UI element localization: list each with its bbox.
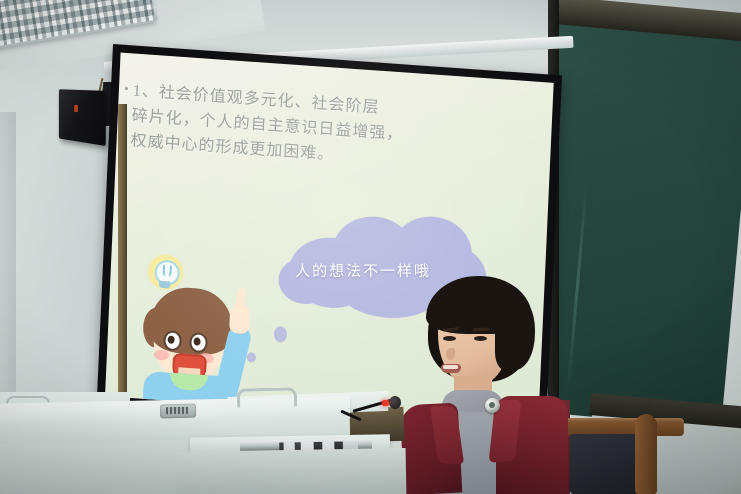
slide-body-text: 1、社会价值观多元化、社会阶层 碎片化，个人的自主意识日益增强， 权威中心的形成… <box>130 80 554 184</box>
chair-armrest <box>635 414 657 494</box>
microphone-status-led <box>382 400 389 406</box>
wall-wood-trim <box>118 104 127 434</box>
lecture-hall-scene: 1、社会价值观多元化、社会阶层 碎片化，个人的自主意识日益增强， 权威中心的形成… <box>0 0 741 494</box>
presenter-teeth <box>443 365 458 369</box>
wall-speaker-icon <box>59 89 106 146</box>
lightbulb-filament <box>163 265 172 277</box>
slide-bullet-icon <box>125 87 128 90</box>
podium-front-panel <box>176 448 407 494</box>
microphone-icon[interactable] <box>389 396 401 409</box>
lightbulb-base <box>159 281 170 289</box>
speaker-power-led <box>74 105 78 112</box>
bubble-trail-dot <box>274 326 288 343</box>
podium-latch-teeth <box>166 407 188 414</box>
presenter-hair-side <box>495 296 535 370</box>
presenter-eye-right <box>474 336 487 341</box>
podium-lid-handle[interactable] <box>237 387 297 407</box>
presenter-eye-left <box>443 336 456 341</box>
presenter-badge-center <box>489 402 495 408</box>
presenter-nose <box>446 348 455 360</box>
presenter <box>400 278 596 494</box>
